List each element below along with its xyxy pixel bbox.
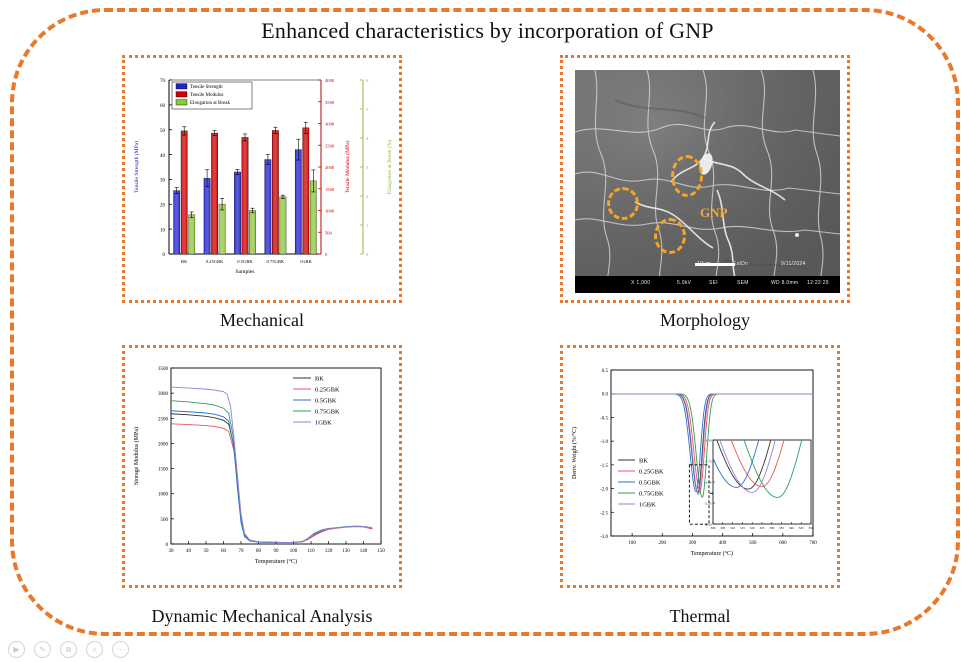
sem-detector1-text: SEI — [709, 280, 718, 286]
svg-text:80: 80 — [256, 549, 262, 554]
svg-text:0.5GBK: 0.5GBK — [315, 397, 337, 404]
svg-text:1GBK: 1GBK — [639, 501, 656, 508]
svg-text:0: 0 — [366, 252, 369, 257]
svg-text:BK: BK — [315, 375, 324, 382]
svg-text:2000: 2000 — [158, 442, 169, 447]
caption-mechanical: Mechanical — [122, 310, 402, 331]
svg-text:Temperature (°C): Temperature (°C) — [255, 558, 297, 565]
svg-text:0: 0 — [325, 252, 328, 257]
svg-text:0.5: 0.5 — [602, 369, 609, 374]
svg-text:20: 20 — [160, 203, 166, 208]
svg-text:110: 110 — [307, 549, 315, 554]
svg-text:130: 130 — [342, 549, 350, 554]
svg-text:2: 2 — [366, 194, 369, 199]
svg-text:Tensile Modulus (MPa): Tensile Modulus (MPa) — [344, 140, 351, 193]
panel-dma: 3040506070809010011012013014015005001000… — [122, 345, 402, 588]
svg-text:120: 120 — [325, 549, 333, 554]
svg-text:2500: 2500 — [325, 143, 335, 148]
caption-morphology: Morphology — [560, 310, 850, 331]
svg-text:0.5GBK: 0.5GBK — [639, 479, 661, 486]
svg-text:40: 40 — [160, 154, 166, 159]
svg-text:-1.50: -1.50 — [704, 439, 711, 443]
svg-text:Tensile Strength: Tensile Strength — [190, 85, 223, 90]
svg-text:6: 6 — [366, 78, 369, 83]
svg-text:0.5GBK: 0.5GBK — [237, 259, 253, 264]
sem-image: GNP 10µm EstDn 9/11/2024 X 1,000 5.0kV S… — [575, 70, 840, 293]
svg-text:Samples: Samples — [236, 269, 255, 275]
svg-text:50: 50 — [204, 549, 210, 554]
svg-text:-1.5: -1.5 — [600, 464, 608, 469]
svg-text:350: 350 — [809, 526, 814, 530]
play-icon[interactable]: ▶ — [8, 641, 25, 658]
svg-text:-2.0: -2.0 — [600, 488, 608, 493]
svg-text:700: 700 — [809, 541, 817, 546]
svg-text:325: 325 — [760, 526, 765, 530]
svg-text:335: 335 — [779, 526, 784, 530]
svg-text:0.25GBK: 0.25GBK — [206, 259, 224, 264]
dma-line-chart: 3040506070809010011012013014015005001000… — [125, 348, 399, 585]
sem-date-text: 9/11/2024 — [781, 261, 806, 267]
svg-text:Elongation at Break: Elongation at Break — [190, 101, 230, 106]
sem-detector2-text: SEM — [737, 280, 749, 286]
bottom-toolbar: ▶ ✎ ⧉ ⌕ ⋯ — [8, 641, 129, 658]
svg-text:0.25GBK: 0.25GBK — [315, 386, 340, 393]
svg-text:70: 70 — [160, 79, 166, 84]
svg-text:3000: 3000 — [158, 392, 169, 397]
svg-text:0.0: 0.0 — [602, 393, 609, 398]
svg-text:1GBK: 1GBK — [300, 259, 313, 264]
svg-text:30: 30 — [169, 549, 175, 554]
sem-voltage-text: 5.0kV — [677, 280, 691, 286]
svg-text:300: 300 — [689, 541, 697, 546]
sem-micrograph — [575, 70, 840, 293]
page-title: Enhanced characteristics by incorporatio… — [0, 18, 975, 44]
svg-text:10: 10 — [160, 228, 166, 233]
svg-text:140: 140 — [360, 549, 368, 554]
svg-text:3500: 3500 — [158, 367, 169, 372]
svg-text:500: 500 — [161, 518, 169, 523]
sem-time-text: 12:22:29 — [807, 280, 829, 286]
svg-text:-2.00: -2.00 — [704, 481, 711, 485]
gnp-highlight-circle-1 — [671, 155, 703, 197]
svg-text:Tensile Modulus: Tensile Modulus — [190, 93, 223, 98]
more-icon[interactable]: ⋯ — [112, 641, 129, 658]
svg-text:Elongation at Break (%): Elongation at Break (%) — [386, 140, 393, 195]
svg-text:30: 30 — [160, 179, 166, 184]
sem-magnification-text: X 1,000 — [631, 280, 650, 286]
thermal-dtg-chart: 100200300400500600700-3.0-2.5-2.0-1.5-1.… — [563, 348, 837, 585]
svg-text:1: 1 — [366, 223, 369, 228]
svg-text:1500: 1500 — [158, 468, 169, 473]
svg-text:-1.0: -1.0 — [600, 440, 608, 445]
svg-text:200: 200 — [659, 541, 667, 546]
svg-text:150: 150 — [377, 549, 385, 554]
sem-working-distance-text: WD 8.0mm — [771, 280, 798, 286]
gnp-annotation-label: GNP — [700, 205, 727, 221]
panel-thermal: 100200300400500600700-3.0-2.5-2.0-1.5-1.… — [560, 345, 840, 588]
svg-text:305: 305 — [720, 526, 725, 530]
svg-text:0: 0 — [166, 543, 169, 548]
svg-text:Deriv. Weight (%/°C): Deriv. Weight (%/°C) — [571, 427, 578, 479]
svg-text:90: 90 — [274, 549, 280, 554]
svg-text:1GBK: 1GBK — [315, 419, 332, 426]
svg-text:340: 340 — [789, 526, 794, 530]
svg-text:60: 60 — [221, 549, 227, 554]
svg-text:-3.0: -3.0 — [600, 535, 608, 540]
svg-text:300: 300 — [711, 526, 716, 530]
mechanical-bar-chart: 0102030405060700500100015002000250030003… — [125, 58, 399, 300]
panel-mechanical: 0102030405060700500100015002000250030003… — [122, 55, 402, 303]
gnp-highlight-circle-3 — [654, 218, 686, 254]
svg-text:-1.75: -1.75 — [704, 460, 711, 464]
copy-icon[interactable]: ⧉ — [60, 641, 77, 658]
caption-thermal: Thermal — [560, 606, 840, 627]
svg-text:400: 400 — [719, 541, 727, 546]
svg-text:3000: 3000 — [325, 122, 335, 127]
svg-text:BK: BK — [181, 259, 188, 264]
svg-text:4: 4 — [366, 136, 369, 141]
svg-text:4000: 4000 — [325, 78, 335, 83]
svg-text:Temperature (°C): Temperature (°C) — [691, 550, 733, 557]
svg-text:BK: BK — [639, 457, 648, 464]
svg-text:310: 310 — [730, 526, 735, 530]
gnp-highlight-circle-2 — [607, 187, 639, 220]
svg-text:3: 3 — [366, 165, 369, 170]
panel-morphology: GNP 10µm EstDn 9/11/2024 X 1,000 5.0kV S… — [560, 55, 850, 303]
svg-text:345: 345 — [799, 526, 804, 530]
svg-text:3500: 3500 — [325, 100, 335, 105]
svg-text:0.75GBK: 0.75GBK — [639, 490, 664, 497]
svg-text:1500: 1500 — [325, 187, 335, 192]
svg-text:-2.5: -2.5 — [600, 511, 608, 516]
pencil-icon[interactable]: ✎ — [34, 641, 51, 658]
caption-dma: Dynamic Mechanical Analysis — [112, 606, 412, 627]
sem-info-bar — [575, 276, 840, 293]
svg-text:500: 500 — [749, 541, 757, 546]
svg-text:100: 100 — [290, 549, 298, 554]
sem-mode-text: EstDn — [733, 261, 748, 267]
svg-text:-0.5: -0.5 — [600, 416, 608, 421]
svg-text:60: 60 — [160, 104, 166, 109]
svg-text:1000: 1000 — [158, 493, 169, 498]
sem-scale-text: 10µm — [697, 261, 711, 267]
svg-text:0.25GBK: 0.25GBK — [639, 468, 664, 475]
svg-text:Storage Modulus (MPa): Storage Modulus (MPa) — [133, 427, 140, 485]
svg-text:320: 320 — [750, 526, 755, 530]
svg-text:-2.25: -2.25 — [704, 502, 711, 506]
svg-text:1000: 1000 — [325, 209, 335, 214]
svg-text:100: 100 — [628, 541, 636, 546]
svg-text:Tensile Strength (MPa): Tensile Strength (MPa) — [133, 141, 140, 193]
svg-text:5: 5 — [366, 107, 369, 112]
svg-text:330: 330 — [769, 526, 774, 530]
svg-text:40: 40 — [186, 549, 192, 554]
svg-text:70: 70 — [239, 549, 245, 554]
svg-text:2500: 2500 — [158, 417, 169, 422]
svg-text:600: 600 — [779, 541, 787, 546]
svg-text:315: 315 — [740, 526, 745, 530]
svg-text:0: 0 — [163, 253, 166, 258]
svg-text:0.75GBK: 0.75GBK — [267, 259, 285, 264]
svg-text:0.75GBK: 0.75GBK — [315, 408, 340, 415]
search-icon[interactable]: ⌕ — [86, 641, 103, 658]
svg-text:500: 500 — [325, 230, 333, 235]
svg-text:50: 50 — [160, 129, 166, 134]
svg-text:2000: 2000 — [325, 165, 335, 170]
